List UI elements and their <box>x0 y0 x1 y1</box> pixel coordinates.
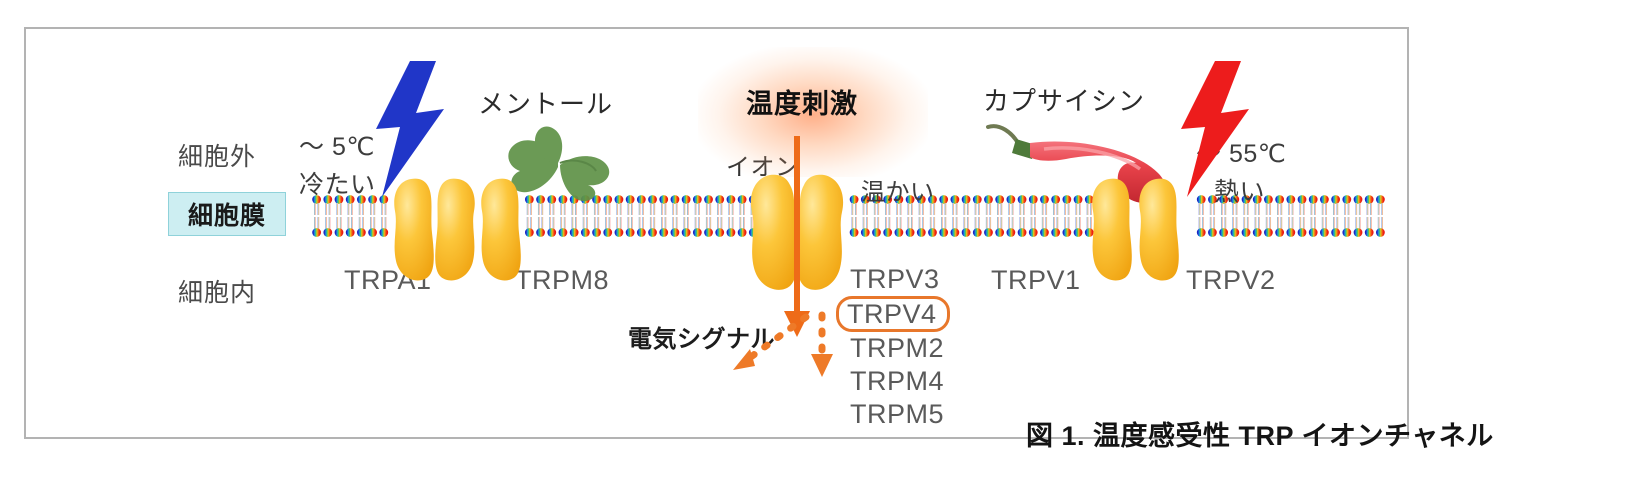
label-cold-sensation: 冷たい <box>299 165 376 201</box>
channel-list-item-trpm2: TRPM2 <box>844 332 950 365</box>
label-electric-signal: 電気シグナル <box>628 319 775 354</box>
channel-list-item-trpv4: TRPV4 <box>836 296 950 332</box>
label-cold-temperature: ～ 5℃ <box>299 127 375 163</box>
figure-caption: 図 1. 温度感受性 TRP イオンチャネル <box>1026 414 1494 453</box>
label-menthol: メントール <box>478 84 613 121</box>
label-extracellular: 細胞外 <box>178 137 256 173</box>
label-membrane: 細胞膜 <box>169 193 285 235</box>
channel-list-item-trpm4: TRPM4 <box>844 365 950 398</box>
label-hot-sensation: 熱い <box>1214 172 1265 208</box>
channel-list-item-trpv3: TRPV3 <box>844 263 950 296</box>
channel-name-trpm8: TRPM8 <box>515 265 609 296</box>
membrane-label-box: 細胞膜 <box>168 192 286 236</box>
label-warm-sensation: 温かい <box>861 172 935 207</box>
diagram-canvas: 細胞外 細胞膜 細胞内 ～ 5℃ 冷たい ～ 55℃ 熱い メントール カプサイ… <box>26 29 1407 437</box>
electric-signal-arrow-right <box>811 315 833 377</box>
label-heat-stimulus: 温度刺激 <box>746 82 858 121</box>
warm-channel-list: TRPV3TRPV4TRPM2TRPM4TRPM5 <box>844 263 950 431</box>
channel-list-item-trpm5: TRPM5 <box>844 398 950 431</box>
cold-lightning-bolt-icon <box>364 57 454 202</box>
channel-name-trpv1: TRPV1 <box>991 265 1081 296</box>
channel-name-trpv2: TRPV2 <box>1186 265 1276 296</box>
label-capsaicin: カプサイシン <box>983 81 1145 118</box>
label-intracellular: 細胞内 <box>178 273 256 309</box>
channel-name-trpa1: TRPA1 <box>344 265 432 296</box>
label-hot-temperature: ～ 55℃ <box>1196 134 1286 170</box>
figure-frame: 細胞外 細胞膜 細胞内 ～ 5℃ 冷たい ～ 55℃ 熱い メントール カプサイ… <box>24 27 1409 439</box>
